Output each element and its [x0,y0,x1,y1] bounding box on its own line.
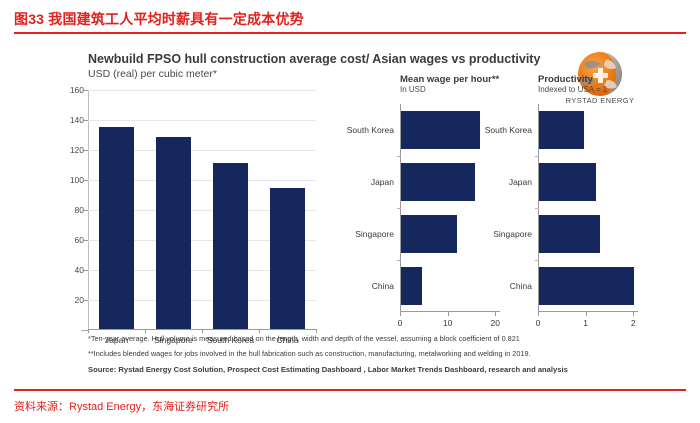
bar [401,163,475,200]
y-axis-category-label: Singapore [355,229,394,239]
y-axis-tick [535,208,539,209]
bar [270,188,305,329]
figure-source: Source: Rystad Energy Cost Solution, Pro… [88,365,568,374]
gridline [88,90,316,91]
header-divider [14,32,686,34]
chart-productivity-horizontal-bars: Productivity Indexed to USA = 1 South Ko… [538,90,638,316]
y-axis-category-label: Singapore [493,229,532,239]
bar [539,163,596,200]
footnote-two: **Includes blended wages for jobs involv… [88,349,531,358]
bar [156,137,191,329]
y-axis-tick-label: 120 [70,145,84,155]
x-axis-tick-label: 10 [443,318,452,328]
x-axis-tick [400,312,401,316]
x-axis-tick [316,329,317,333]
y-axis-tick [84,300,88,301]
y-axis-category-label: South Korea [347,125,394,135]
bar [539,215,600,252]
x-axis-tick-label: 0 [398,318,403,328]
footer-divider [14,389,686,391]
y-axis-tick [397,156,401,157]
y-axis-tick [84,210,88,211]
x-axis-tick [202,329,203,333]
y-axis-tick [84,90,88,91]
gridline [88,120,316,121]
x-axis-tick-label: 20 [491,318,500,328]
page-title: 图33 我国建筑工人平均时薪具有一定成本优势 [14,9,304,29]
chart-cost-vertical-bars: -20406080100120140160 JapanSingaporeSout… [88,90,316,330]
footnote-one: *Ten-year average. Hull volume is measur… [88,334,520,343]
plot-area: South KoreaJapanSingaporeChina 01020 [400,104,500,312]
y-axis-tick [84,180,88,181]
y-axis-tick [535,260,539,261]
y-axis-tick-label: 160 [70,85,84,95]
y-axis-tick-label: 100 [70,175,84,185]
y-axis-category-label: South Korea [485,125,532,135]
bar [99,127,134,330]
y-axis-category-label: China [510,281,532,291]
y-axis-tick [397,260,401,261]
bar [401,111,480,148]
y-axis-tick [535,156,539,157]
chart-mean-wage-subtitle: In USD [400,85,426,94]
y-axis-tick [84,270,88,271]
y-axis-tick [84,240,88,241]
x-axis-line [538,311,638,312]
figure-panel: Newbuild FPSO hull construction average … [0,38,700,386]
chart-productivity-subtitle: Indexed to USA = 1 [538,85,607,94]
plot-area: South KoreaJapanSingaporeChina 012 [538,104,638,312]
y-axis-category-label: Japan [509,177,532,187]
bar [401,215,457,252]
x-axis-tick [586,312,587,316]
chart-productivity-title: Productivity [538,74,593,85]
x-axis-tick [448,312,449,316]
y-axis-tick-label: 20 [75,295,84,305]
x-axis-tick [145,329,146,333]
x-axis-tick [495,312,496,316]
x-axis-tick-label: 1 [583,318,588,328]
chart-mean-wage-horizontal-bars: Mean wage per hour** In USD South KoreaJ… [400,90,500,316]
y-axis-tick-label: 60 [75,235,84,245]
y-axis-tick-label: 40 [75,265,84,275]
x-axis-tick [538,312,539,316]
y-axis-category-label: China [372,281,394,291]
y-axis-tick [84,150,88,151]
x-axis-tick-label: 2 [631,318,636,328]
bar [213,163,248,330]
x-axis-tick-label: 0 [536,318,541,328]
x-axis-tick [633,312,634,316]
y-axis-tick [84,120,88,121]
y-axis-tick-label: 80 [75,205,84,215]
source-note: 资料来源：Rystad Energy，东海证券研究所 [14,398,229,414]
figure-title: Newbuild FPSO hull construction average … [88,52,540,66]
chart-mean-wage-title: Mean wage per hour** [400,74,499,85]
y-axis-category-label: Japan [371,177,394,187]
x-axis-tick [88,329,89,333]
bar [539,111,584,148]
bar [401,267,422,304]
y-axis-tick [397,208,401,209]
figure-subtitle: USD (real) per cubic meter* [88,68,217,80]
x-axis-line [400,311,500,312]
y-axis-tick-label: 140 [70,115,84,125]
bar [539,267,634,304]
x-axis-tick [259,329,260,333]
